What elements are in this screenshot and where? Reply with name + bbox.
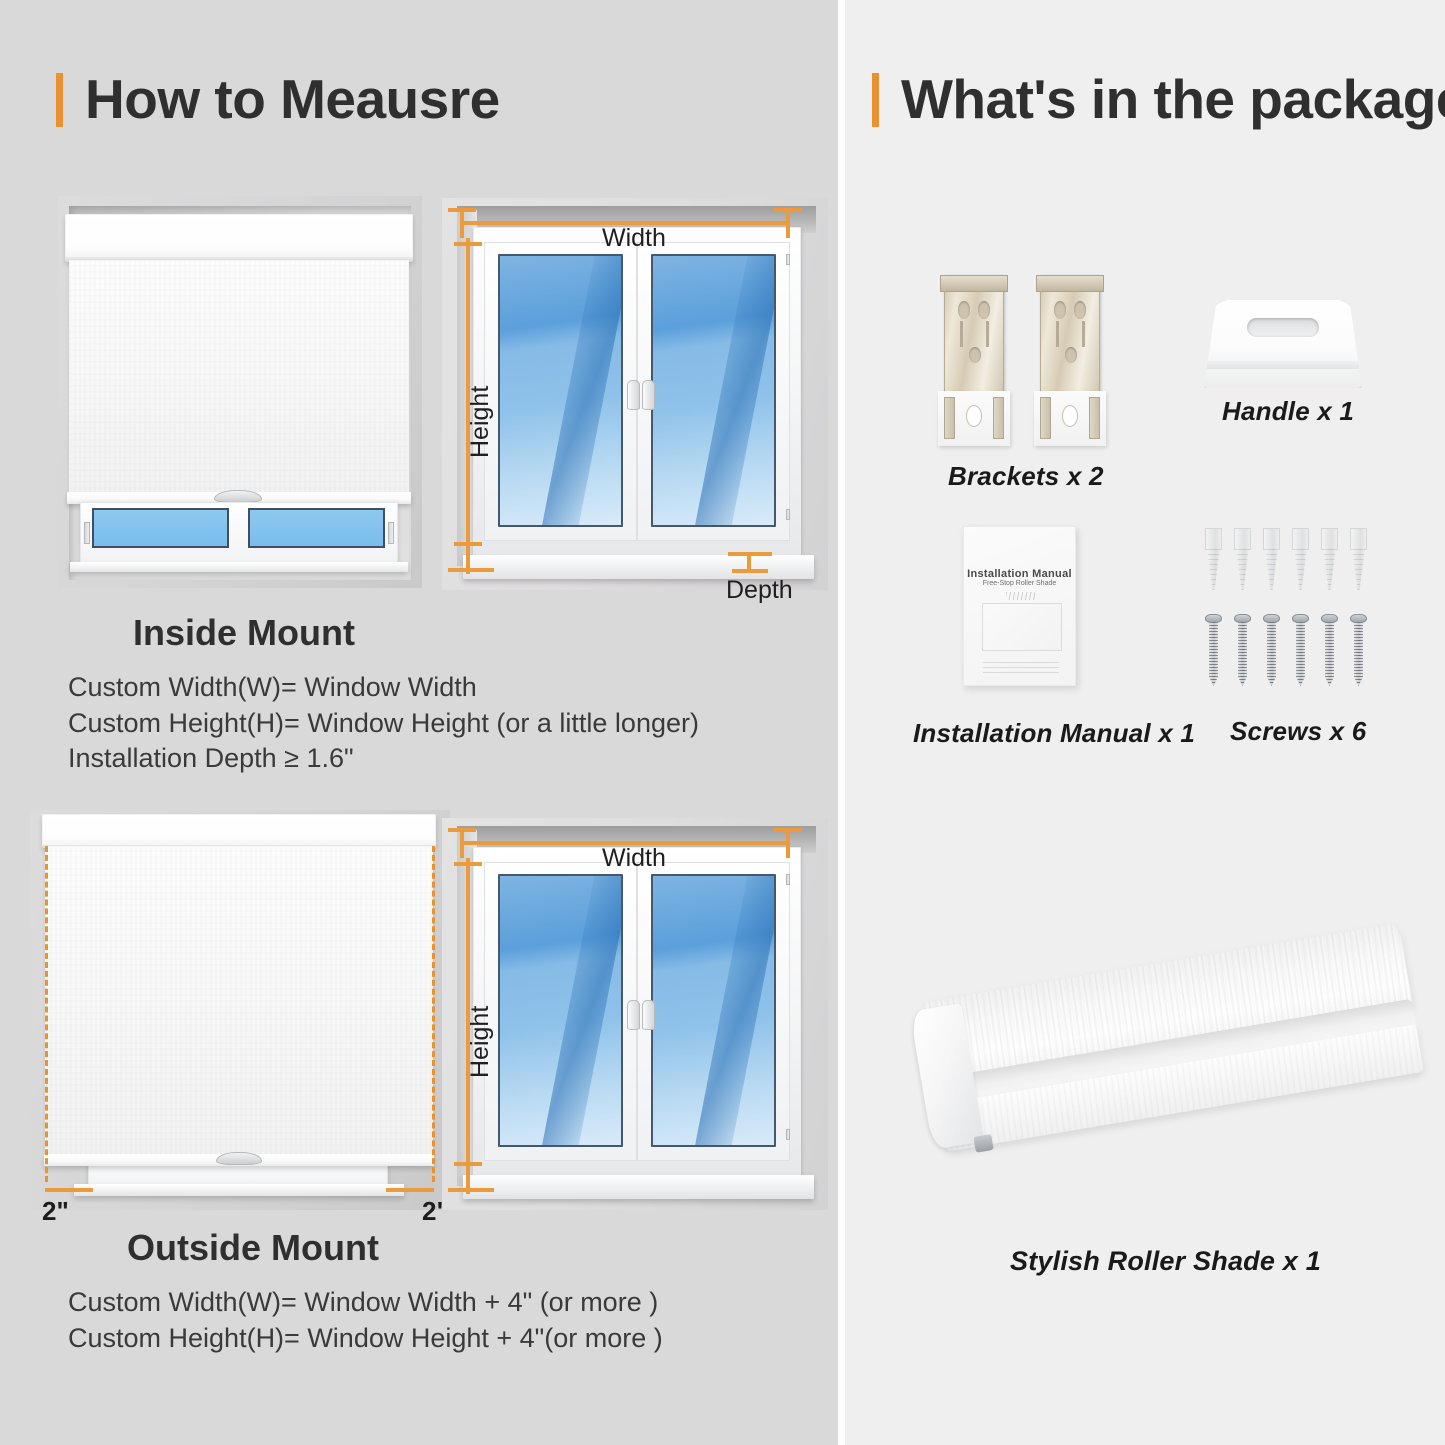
panel-divider [838,0,845,1445]
window-sill [74,1184,404,1196]
window-frame [473,847,801,1178]
window-glass-left [498,874,623,1147]
inside-mount-window-diagram: Width Height Depth [442,198,828,590]
handle-label: Handle x 1 [1222,396,1354,427]
manual-label: Installation Manual x 1 [913,718,1195,749]
height-label: Height [466,386,495,458]
package-contents-header: What's in the package [872,72,1445,127]
overhang-label-left: 2" [42,1196,69,1227]
handle-icon [1204,300,1362,388]
width-label: Width [602,844,666,873]
roller-end-pin [973,1134,994,1153]
hinge-icon [84,522,90,544]
shade-valance [42,814,436,848]
outside-mount-shade-illustration [30,810,450,1210]
inside-mount-shade-illustration [58,196,422,588]
width-measure-cap-right [786,210,790,238]
width-measure-tip-left [448,828,476,832]
lower-glass-left [92,508,229,548]
wall-anchor-icon [1321,528,1338,590]
window-sill [70,562,408,572]
shade-pull-handle [216,1152,262,1165]
wall-anchor-icon [1350,528,1367,590]
how-to-measure-header: How to Meausre [56,72,500,127]
window-frame [473,227,801,558]
width-measure-cap-left [460,210,464,238]
height-measure-cap-bottom [454,1162,482,1166]
window-sash-right [637,862,790,1161]
manual-icon: Installation Manual Free-Stop Roller Sha… [963,526,1076,686]
screw-icon [1292,614,1309,686]
height-measure-cap-top [454,242,482,246]
overhang-guide-left [45,846,48,1182]
shade-fabric [69,260,409,495]
wall-anchor-icon [1205,528,1222,590]
hinge-icon [786,874,790,885]
width-measure-tip-left [448,208,476,212]
window-handle-left [627,1000,640,1030]
height-measure-base [448,1188,494,1192]
wall-anchor-icon [1292,528,1309,590]
screws-label: Screws x 6 [1230,716,1366,747]
roller-shade-label: Stylish Roller Shade x 1 [1010,1246,1321,1277]
accent-bar-icon [56,73,63,127]
shade-fabric [45,846,433,1158]
overhang-measure-right [386,1188,434,1192]
brackets-item [938,275,1118,455]
outside-mount-line-1: Custom Width(W)= Window Width + 4" (or m… [68,1285,663,1321]
accent-bar-icon [872,73,879,127]
page-title-right: What's in the package [901,72,1445,127]
outside-mount-instructions: Custom Width(W)= Window Width + 4" (or m… [68,1285,663,1356]
hinge-icon [786,509,790,520]
window-sash-right [637,242,790,541]
manual-cover-title: Installation Manual [963,568,1076,580]
window-handle-right [642,380,655,410]
depth-measure-base [732,569,768,573]
manual-cover-footer-lines [983,659,1059,673]
screw-icon [1205,614,1222,686]
screw-icon [1321,614,1338,686]
page-title-left: How to Meausre [85,72,500,127]
window-glass-left [498,254,623,527]
manual-cover-scribble [1006,592,1035,600]
outside-mount-title: Outside Mount [127,1227,379,1269]
lower-glass-right [248,508,385,548]
inside-mount-line-2: Custom Height(H)= Window Height (or a li… [68,706,699,742]
inside-mount-title: Inside Mount [133,612,355,654]
height-measure-cap-bottom [454,542,482,546]
screws-item [1205,528,1385,696]
brackets-label: Brackets x 2 [948,461,1104,492]
inside-mount-instructions: Custom Width(W)= Window Width Custom Hei… [68,670,699,777]
width-measure-tip-right [774,208,802,212]
window-sash-left [484,862,637,1161]
inside-mount-line-3: Installation Depth ≥ 1.6" [68,741,699,777]
width-measure-cap-left [460,830,464,858]
manual-cover-subtitle: Free-Stop Roller Shade [963,580,1076,587]
infographic-page: How to Meausre What's in the package [0,0,1445,1445]
window-glass-right [651,874,776,1147]
window-handle-right [642,1000,655,1030]
height-label: Height [466,1006,495,1078]
inside-mount-line-1: Custom Width(W)= Window Width [68,670,699,706]
width-label: Width [602,224,666,253]
overhang-measure-left [45,1188,93,1192]
hinge-icon [786,1129,790,1140]
width-measure-tip-right [774,828,802,832]
window-handle-left [627,380,640,410]
screw-icon [1234,614,1251,686]
bracket-icon [938,275,1010,450]
screw-icon [1263,614,1280,686]
window-glass-right [651,254,776,527]
hinge-icon [388,522,394,544]
height-measure-cap-top [454,862,482,866]
outside-mount-window-diagram: Width Height [442,818,828,1210]
outside-mount-line-2: Custom Height(H)= Window Height + 4"(or … [68,1321,663,1357]
wall-anchor-icon [1263,528,1280,590]
hinge-icon [786,254,790,265]
width-measure-cap-right [786,830,790,858]
screw-icon [1350,614,1367,686]
height-measure-base [448,568,494,572]
bracket-icon [1034,275,1106,450]
shade-valance [65,214,413,262]
wall-anchor-icon [1234,528,1251,590]
manual-cover-diagram [982,603,1062,651]
depth-label: Depth [726,576,793,605]
roller-shade-icon [905,880,1425,1200]
window-sash-left [484,242,637,541]
overhang-guide-right [432,846,435,1182]
